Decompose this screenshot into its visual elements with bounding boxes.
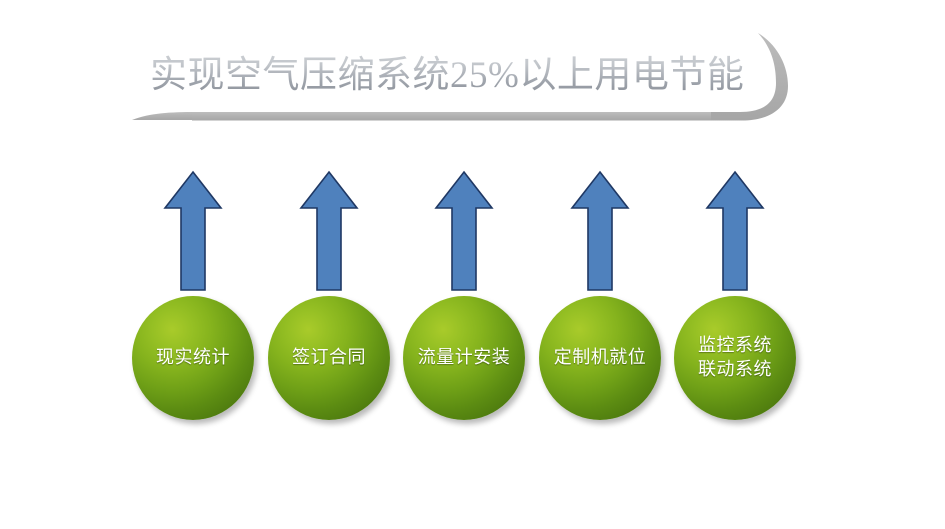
- up-arrow-3: [434, 170, 494, 292]
- process-node-5-line1: 监控系统: [698, 335, 772, 355]
- title-banner: 实现空气压缩系统25%以上用电节能: [0, 0, 945, 155]
- process-node-1-line1: 现实统计: [156, 347, 230, 367]
- slide-canvas: 实现空气压缩系统25%以上用电节能 现实统计 签订合同: [0, 0, 945, 529]
- up-arrow-5: [705, 170, 765, 292]
- process-node-3-label: 流量计安装: [418, 346, 511, 370]
- process-node-2-label: 签订合同: [292, 346, 366, 370]
- process-node-2-line1: 签订合同: [292, 347, 366, 367]
- process-node-3-line1: 流量计安装: [418, 347, 511, 367]
- process-node-4-line1: 定制机就位: [554, 347, 647, 367]
- banner-decoration-shape: [0, 0, 945, 155]
- process-node-5[interactable]: 监控系统 联动系统: [674, 296, 796, 420]
- up-arrow-1: [163, 170, 223, 292]
- up-arrow-2: [299, 170, 359, 292]
- process-node-1[interactable]: 现实统计: [132, 296, 254, 420]
- process-node-4[interactable]: 定制机就位: [539, 296, 661, 420]
- process-node-1-label: 现实统计: [156, 346, 230, 370]
- process-node-3[interactable]: 流量计安装: [403, 296, 525, 420]
- process-node-2[interactable]: 签订合同: [268, 296, 390, 420]
- process-node-5-label: 监控系统 联动系统: [698, 334, 772, 382]
- process-node-4-label: 定制机就位: [554, 346, 647, 370]
- process-node-5-line2: 联动系统: [698, 358, 772, 382]
- up-arrow-4: [570, 170, 630, 292]
- page-title: 实现空气压缩系统25%以上用电节能: [150, 48, 750, 104]
